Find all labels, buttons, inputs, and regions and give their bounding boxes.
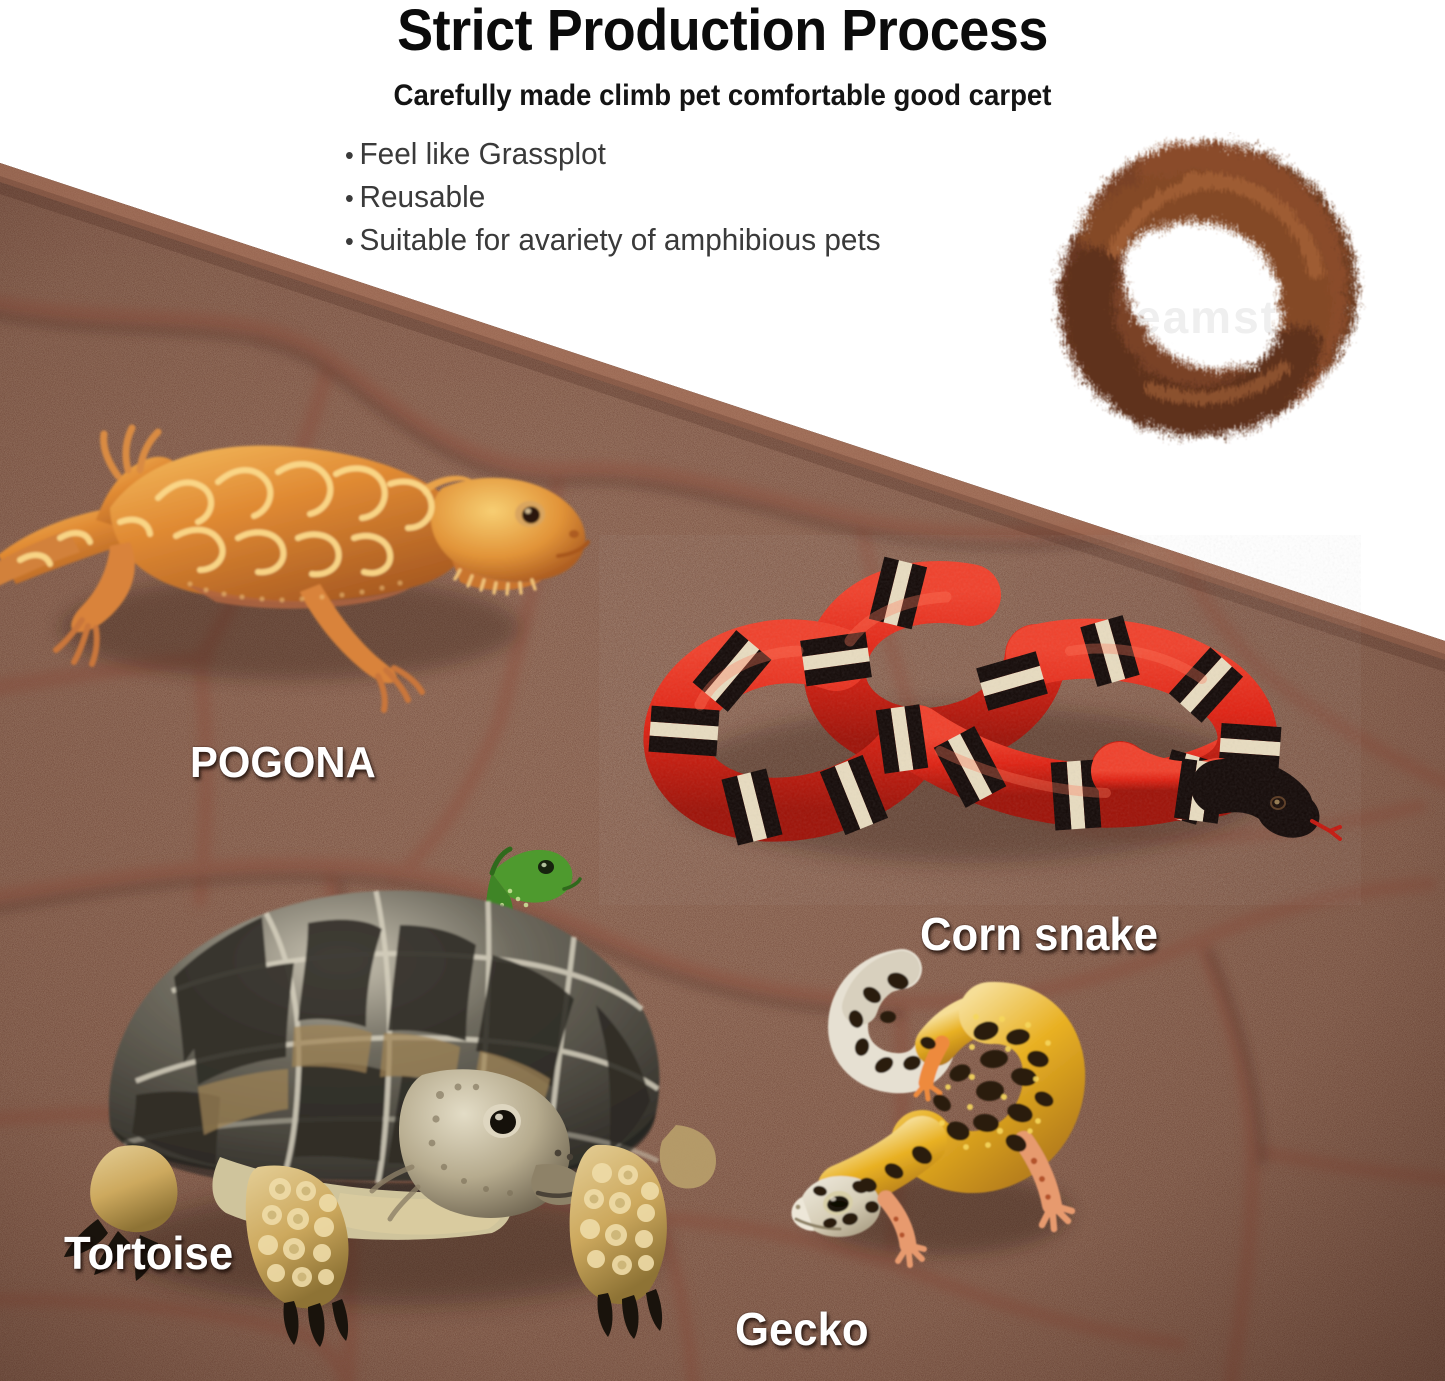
label-tortoise: Tortoise — [64, 1226, 233, 1280]
list-item-label: Reusable — [360, 176, 486, 217]
product-infographic: Strict Production Process Carefully made… — [0, 0, 1445, 1381]
list-item: • Suitable for avariety of amphibious pe… — [345, 219, 881, 262]
page-subtitle: Carefully made climb pet comfortable goo… — [58, 78, 1387, 114]
bullet-dot-icon: • — [345, 135, 354, 176]
list-item-label: Feel like Grassplot — [360, 133, 606, 174]
corn-snake-photo — [640, 555, 1320, 885]
feature-bullet-list: • Feel like Grassplot • Reusable • Suita… — [345, 133, 903, 262]
bullet-dot-icon: • — [345, 221, 354, 262]
label-pogona: POGONA — [190, 738, 376, 788]
list-item: • Reusable — [345, 176, 881, 219]
list-item-label: Suitable for avariety of amphibious pets — [360, 219, 881, 260]
label-gecko: Gecko — [735, 1302, 869, 1356]
page-title: Strict Production Process — [51, 0, 1395, 62]
bullet-dot-icon: • — [345, 178, 354, 219]
list-item: • Feel like Grassplot — [345, 133, 881, 176]
product-image-fur-knot — [1040, 132, 1370, 462]
leopard-gecko-photo — [790, 955, 1090, 1285]
pogona-bearded-dragon-photo — [0, 370, 610, 720]
label-corn-snake: Corn snake — [920, 907, 1158, 961]
